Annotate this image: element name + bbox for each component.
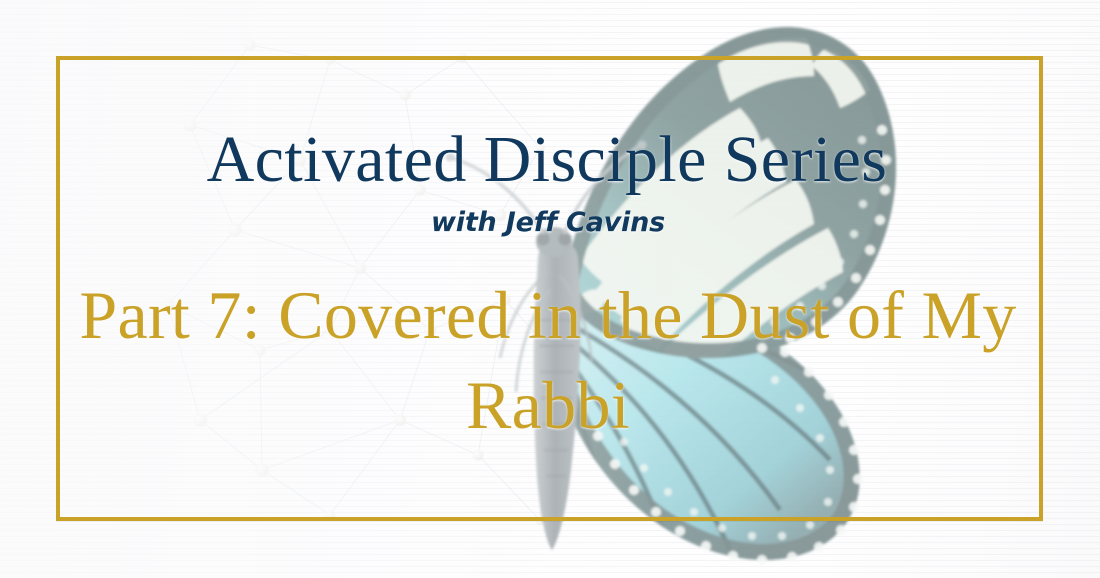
episode-title: Part 7: Covered in the Dust of My Rabbi [70,271,1030,451]
title-slide: Activated Disciple Series with Jeff Cavi… [0,0,1100,578]
presenter-byline: with Jeff Cavins [0,207,1100,238]
text-content-layer: Activated Disciple Series with Jeff Cavi… [0,0,1100,578]
series-title: Activated Disciple Series [0,127,1100,193]
